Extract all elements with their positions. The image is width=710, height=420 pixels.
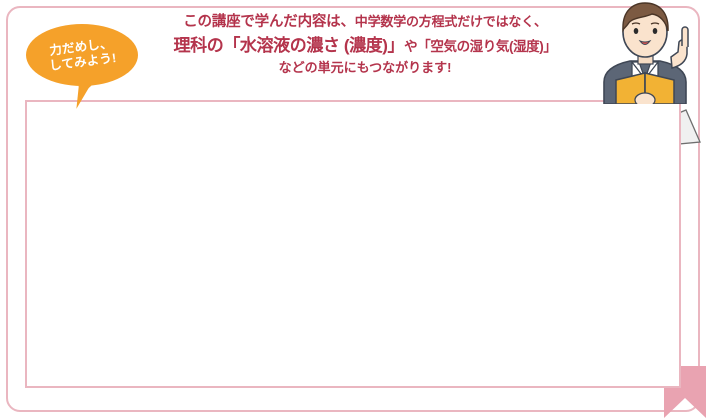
header-line-1-strong: この講座で学んだ内容は、 — [183, 14, 355, 30]
teacher-icon — [586, 0, 706, 104]
header-line-2-strong: 理科の「水溶液の濃さ (濃度)」 — [174, 36, 405, 55]
header-line-1-small: 中学数学の方程式だけではなく、 — [355, 14, 547, 29]
content-box — [25, 100, 681, 388]
header-line-2: 理科の「水溶液の濃さ (濃度)」や「空気の湿り気(湿度)」 — [150, 34, 580, 59]
page-root: 力だめし、 してみよう! この講座で学んだ内容は、中学数学の方程式だけではなく、… — [0, 0, 710, 420]
header-line-3: などの単元にもつながります! — [150, 58, 580, 78]
header-message: この講座で学んだ内容は、中学数学の方程式だけではなく、 理科の「水溶液の濃さ (… — [150, 12, 580, 79]
header-line-1: この講座で学んだ内容は、中学数学の方程式だけではなく、 — [150, 12, 580, 34]
header-line-2-small: や「空気の湿り気(湿度)」 — [404, 39, 556, 54]
teacher-illustration — [586, 0, 706, 104]
